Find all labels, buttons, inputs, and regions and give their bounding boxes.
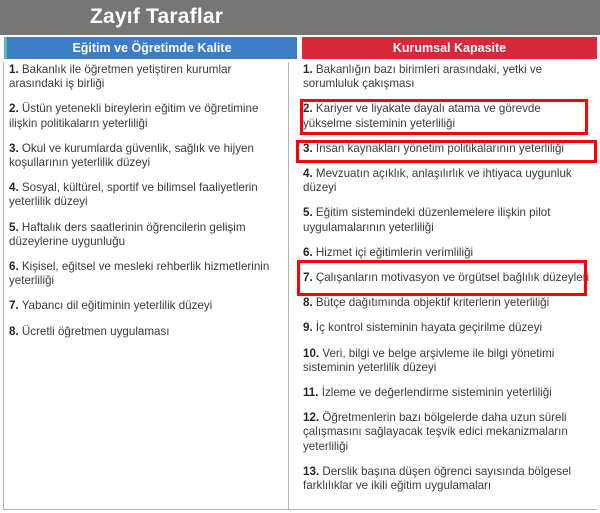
list-item: 4. Sosyal, kültürel, sportif ve bilimsel… [9, 180, 285, 210]
list-item-number: 7. [303, 271, 313, 284]
list-item-number: 1. [303, 63, 313, 76]
list-item-number: 8. [9, 325, 19, 338]
list-item-text: Yabancı dil eğitiminin yeterlilik düzeyi [22, 299, 213, 312]
list-item: 4. Mevzuatın açıklık, anlaşılırlık ve ih… [303, 166, 593, 196]
list-item: 6. Kişisel, eğitsel ve mesleki rehberlik… [9, 259, 285, 289]
list-item-text: Kariyer ve liyakate dayalı atama ve göre… [303, 102, 541, 129]
list-item: 6. Hizmet içi eğitimlerin verimliliği [303, 245, 593, 261]
list-item-number: 2. [303, 102, 313, 115]
list-item-number: 11. [303, 386, 318, 399]
list-item-text: Çalışanların motivasyon ve örgütsel bağl… [316, 271, 589, 284]
list-item: 11. İzleme ve değerlendirme sisteminin y… [303, 385, 593, 401]
column-header-education-quality: Eğitim ve Öğretimde Kalite [4, 37, 297, 59]
list-item: 8. Bütçe dağıtımında objektif kriterleri… [303, 295, 593, 311]
column-header-institutional-capacity: Kurumsal Kapasite [302, 37, 597, 59]
list-item-text: Bakanlığın bazı birimleri arasındaki, ye… [303, 63, 542, 90]
list-item-text: İnsan kaynakları yönetim politikalarının… [316, 142, 564, 155]
list-item-number: 1. [9, 63, 19, 76]
right-column-list: 1. Bakanlığın bazı birimleri arasındaki,… [303, 62, 593, 503]
list-item: 10. Veri, bilgi ve belge arşivleme ile b… [303, 346, 593, 376]
list-item-text: Mevzuatın açıklık, anlaşılırlık ve ihtiy… [303, 167, 572, 194]
list-item-text: İzleme ve değerlendirme sisteminin yeter… [322, 386, 552, 399]
list-item: 1. Bakanlık ile öğretmen yetiştiren kuru… [9, 62, 285, 92]
list-item-text: Okul ve kurumlarda güvenlik, sağlık ve h… [9, 142, 254, 169]
left-column-list: 1. Bakanlık ile öğretmen yetiştiren kuru… [9, 62, 285, 349]
list-item-text: Derslik başına düşen öğrenci sayısında b… [303, 465, 571, 492]
list-item-number: 2. [9, 102, 19, 115]
column-divider [288, 62, 289, 510]
list-item: 9. İç kontrol sisteminin hayata geçirilm… [303, 320, 593, 336]
list-item-number: 9. [303, 321, 313, 334]
list-item-text: İç kontrol sisteminin hayata geçirilme d… [316, 321, 542, 334]
list-item: 7. Çalışanların motivasyon ve örgütsel b… [303, 270, 593, 286]
list-item-number: 12. [303, 411, 319, 424]
list-item-text: Bütçe dağıtımında objektif kriterlerin y… [316, 296, 549, 309]
list-item-text: Veri, bilgi ve belge arşivleme ile bilgi… [303, 347, 554, 374]
list-item-number: 4. [9, 181, 19, 194]
list-item: 2. Kariyer ve liyakate dayalı atama ve g… [303, 101, 593, 131]
list-item: 3. İnsan kaynakları yönetim politikaları… [303, 141, 593, 157]
swot-weaknesses-table: Zayıf Taraflar Eğitim ve Öğretimde Kalit… [0, 0, 600, 513]
list-item-text: Sosyal, kültürel, sportif ve bilimsel fa… [9, 181, 258, 208]
list-item-number: 4. [303, 167, 313, 180]
list-item-number: 3. [9, 142, 19, 155]
page-title: Zayıf Taraflar [90, 5, 223, 29]
list-item: 8. Ücretli öğretmen uygulaması [9, 324, 285, 340]
list-item-number: 10. [303, 347, 319, 360]
list-item-number: 6. [303, 246, 313, 259]
list-item-text: Bakanlık ile öğretmen yetiştiren kurumla… [9, 63, 231, 90]
list-item: 1. Bakanlığın bazı birimleri arasındaki,… [303, 62, 593, 92]
list-item-number: 6. [9, 260, 19, 273]
list-item-text: Eğitim sistemindeki düzenlemelere ilişki… [303, 206, 550, 233]
list-item-text: Üstün yetenekli bireylerin eğitim ve öğr… [9, 102, 258, 129]
list-item-number: 5. [303, 206, 313, 219]
list-item-number: 7. [9, 299, 19, 312]
list-item-text: Öğretmenlerin bazı bölgelerde daha uzun … [303, 411, 568, 452]
list-item-text: Kişisel, eğitsel ve mesleki rehberlik hi… [9, 260, 269, 287]
list-item-number: 8. [303, 296, 313, 309]
list-item-text: Ücretli öğretmen uygulaması [22, 325, 170, 338]
list-item: 3. Okul ve kurumlarda güvenlik, sağlık v… [9, 141, 285, 171]
title-bar: Zayıf Taraflar [0, 0, 600, 35]
list-item: 5. Eğitim sistemindeki düzenlemelere ili… [303, 205, 593, 235]
list-item: 7. Yabancı dil eğitiminin yeterlilik düz… [9, 298, 285, 314]
list-item-number: 3. [303, 142, 313, 155]
list-item-text: Haftalık ders saatlerinin öğrencilerin g… [9, 221, 246, 248]
list-item: 12. Öğretmenlerin bazı bölgelerde daha u… [303, 410, 593, 455]
list-item-number: 13. [303, 465, 319, 478]
list-item: 5. Haftalık ders saatlerinin öğrencileri… [9, 220, 285, 250]
list-item-text: Hizmet içi eğitimlerin verimliliği [316, 246, 473, 259]
list-item: 2. Üstün yetenekli bireylerin eğitim ve … [9, 101, 285, 131]
list-item: 13. Derslik başına düşen öğrenci sayısın… [303, 464, 593, 494]
list-item-number: 5. [9, 221, 19, 234]
